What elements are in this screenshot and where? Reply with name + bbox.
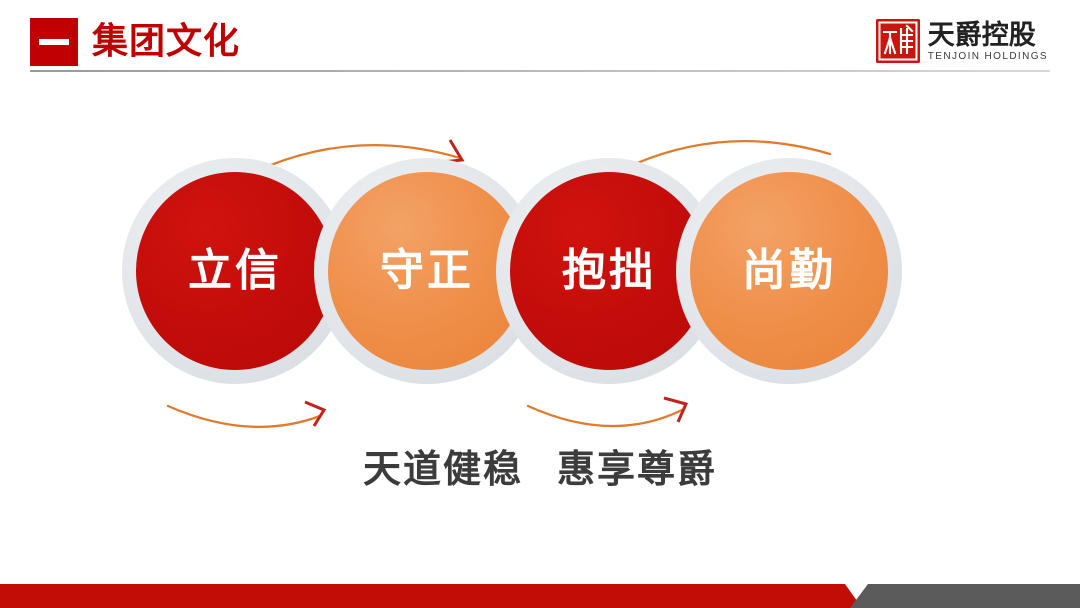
circle-label: 抱拙 xyxy=(562,249,656,293)
brand-logo: 天爵控股 TENJOIN HOLDINGS xyxy=(876,16,1048,66)
culture-circle-4[interactable]: 尚勤 xyxy=(676,158,902,384)
header-divider xyxy=(30,70,1050,72)
brand-name-en: TENJOIN HOLDINGS xyxy=(928,50,1048,63)
slogan-left: 天道健稳 xyxy=(363,449,523,491)
circle-label: 守正 xyxy=(380,249,474,293)
page-title: 集团文化 xyxy=(92,16,240,66)
culture-cycle-diagram: 立信 守正 抱拙 尚勤 xyxy=(0,110,1080,440)
slide-header: 集团文化 xyxy=(0,0,1080,80)
circle-disc: 尚勤 xyxy=(690,172,888,370)
slide-root: 集团文化 xyxy=(0,0,1080,608)
slogan: 天道健稳惠享尊爵 xyxy=(0,438,1080,493)
slide-footer xyxy=(0,584,1080,608)
footer-bar-gray xyxy=(850,584,1080,608)
circle-label: 尚勤 xyxy=(742,249,836,293)
arc-bottom-left-icon xyxy=(168,402,324,427)
circle-disc: 立信 xyxy=(136,172,334,370)
arc-bottom-right-icon xyxy=(528,398,686,426)
slogan-right: 惠享尊爵 xyxy=(557,449,717,491)
seal-logo-icon xyxy=(876,19,920,63)
brand-wordmark: 天爵控股 TENJOIN HOLDINGS xyxy=(928,20,1048,63)
dash-glyph xyxy=(39,39,69,45)
circle-label: 立信 xyxy=(188,249,282,293)
brand-name-cn: 天爵控股 xyxy=(928,20,1048,50)
footer-bar-red xyxy=(0,584,862,608)
dash-square-icon xyxy=(30,18,78,66)
